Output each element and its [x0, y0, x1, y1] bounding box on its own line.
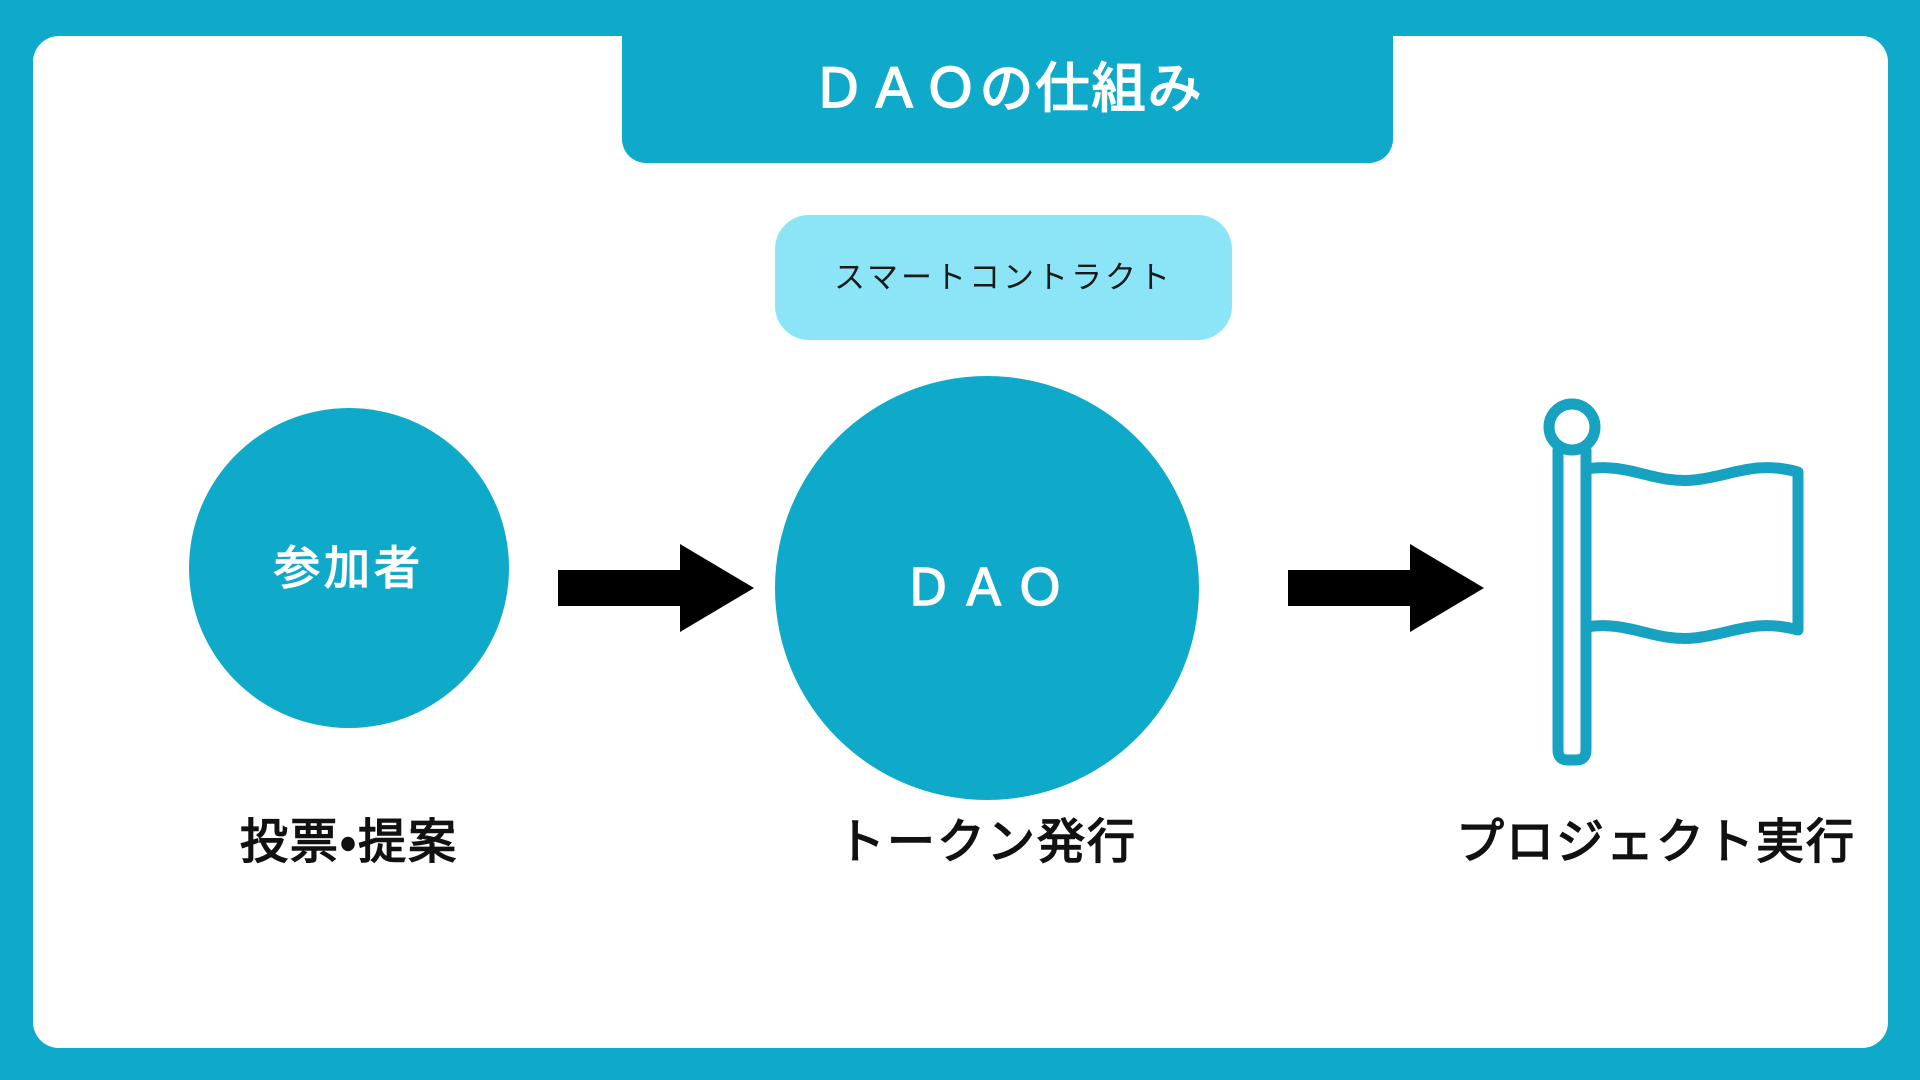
caption-dao: トークン発行 [807, 798, 1167, 888]
node-dao: ＤＡＯ [775, 376, 1199, 800]
node-dao-label: ＤＡＯ [903, 563, 1071, 613]
arrow-right-icon [558, 544, 754, 632]
content-card: ＤＡＯの仕組み スマートコントラクト 参加者 ＤＡＯ [33, 36, 1888, 1048]
page-title: ＤＡＯの仕組み [812, 62, 1204, 138]
caption-row: 投票・提案 トークン発行 プロジェクト実行 [66, 798, 1920, 888]
title-tab: ＤＡＯの仕組み [622, 36, 1393, 163]
node-participants: 参加者 [189, 408, 509, 728]
diagram-canvas: ＤＡＯの仕組み スマートコントラクト 参加者 ＤＡＯ [0, 0, 1920, 1080]
smart-contract-callout: スマートコントラクト [775, 215, 1232, 340]
arrow-right-icon [1288, 544, 1484, 632]
smart-contract-label: スマートコントラクト [834, 262, 1173, 293]
flow-row: 参加者 ＤＡＯ [66, 376, 1920, 816]
caption-project: プロジェクト実行 [1436, 798, 1876, 888]
caption-participants: 投票・提案 [169, 798, 529, 888]
node-participants-label: 参加者 [274, 545, 424, 591]
flag-icon [1536, 388, 1836, 788]
